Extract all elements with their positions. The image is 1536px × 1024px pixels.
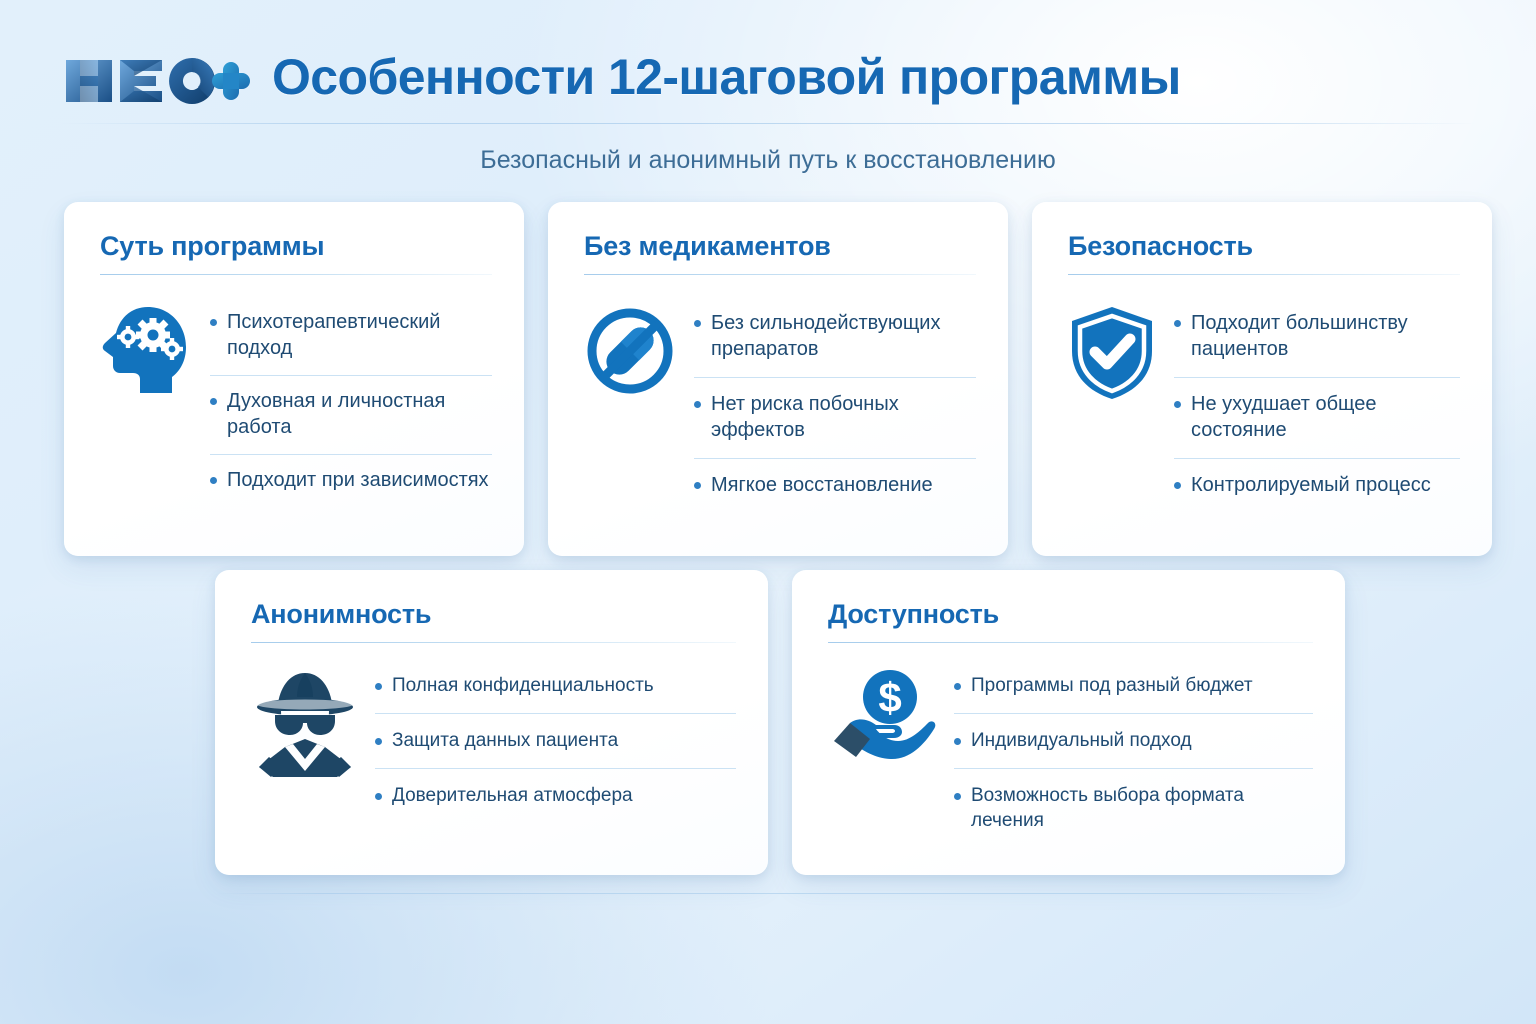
card-title: Без медикаментов bbox=[584, 232, 976, 262]
card-anonymity: Анонимность bbox=[215, 570, 768, 875]
bullet-text: Возможность выбора формата лечения bbox=[971, 783, 1313, 834]
bullet-dot-icon bbox=[694, 482, 701, 489]
bullet-text: Подходит большинству пациентов bbox=[1191, 310, 1460, 363]
list-item: Без сильнодействующих препаратов bbox=[694, 297, 976, 378]
bullet-list: Психотерапевтический подход Духовная и л… bbox=[210, 297, 492, 507]
list-item: Мягкое восстановление bbox=[694, 459, 976, 513]
bullet-list: Полная конфиденциальность Защита данных … bbox=[375, 659, 736, 824]
bullet-text: Защита данных пациента bbox=[392, 728, 618, 753]
bullet-dot-icon bbox=[1174, 320, 1181, 327]
card-title-divider bbox=[828, 642, 1313, 643]
card-program-essence: Суть программы bbox=[64, 202, 524, 556]
bullet-dot-icon bbox=[210, 477, 217, 484]
bullet-text: Не ухудшает общее состояние bbox=[1191, 391, 1460, 444]
bullet-dot-icon bbox=[954, 738, 961, 745]
bullet-dot-icon bbox=[954, 793, 961, 800]
list-item: Подходит большинству пациентов bbox=[1174, 297, 1460, 378]
bullet-dot-icon bbox=[210, 319, 217, 326]
bullet-list: Без сильнодействующих препаратов Нет рис… bbox=[694, 297, 976, 513]
bullet-text: Духовная и личностная работа bbox=[227, 388, 492, 441]
bullet-dot-icon bbox=[375, 738, 382, 745]
header-divider bbox=[60, 123, 1476, 124]
bullet-dot-icon bbox=[375, 793, 382, 800]
list-item: Подходит при зависимостях bbox=[210, 455, 492, 507]
card-title-divider bbox=[1068, 274, 1460, 275]
list-item: Защита данных пациента bbox=[375, 714, 736, 769]
bullet-text: Психотерапевтический подход bbox=[227, 309, 492, 362]
footer-divider bbox=[216, 893, 1326, 894]
card-title: Безопасность bbox=[1068, 232, 1460, 262]
bullet-text: Программы под разный бюджет bbox=[971, 673, 1253, 698]
bullet-text: Полная конфиденциальность bbox=[392, 673, 654, 698]
bullet-dot-icon bbox=[954, 683, 961, 690]
card-title: Суть программы bbox=[100, 232, 492, 262]
head-gears-icon bbox=[100, 297, 192, 401]
list-item: Индивидуальный подход bbox=[954, 714, 1313, 769]
list-item: Полная конфиденциальность bbox=[375, 659, 736, 714]
card-title-divider bbox=[584, 274, 976, 275]
incognito-icon bbox=[251, 659, 359, 777]
card-affordability: Доступность $ Программы под разный бюдже… bbox=[792, 570, 1345, 875]
bullet-list: Подходит большинству пациентов Не ухудша… bbox=[1174, 297, 1460, 513]
page-title: Особенности 12-шаговой программы bbox=[272, 48, 1181, 106]
list-item: Доверительная атмосфера bbox=[375, 769, 736, 823]
bullet-dot-icon bbox=[1174, 482, 1181, 489]
bullet-dot-icon bbox=[210, 398, 217, 405]
list-item: Психотерапевтический подход bbox=[210, 297, 492, 376]
list-item: Программы под разный бюджет bbox=[954, 659, 1313, 714]
list-item: Не ухудшает общее состояние bbox=[1174, 378, 1460, 459]
bullet-dot-icon bbox=[1174, 401, 1181, 408]
card-row-bottom: Анонимность bbox=[215, 570, 1345, 875]
list-item: Нет риска побочных эффектов bbox=[694, 378, 976, 459]
neo-plus-logo-icon bbox=[64, 52, 250, 108]
list-item: Возможность выбора формата лечения bbox=[954, 769, 1313, 849]
card-no-medication: Без медикаментов Без сильнодействующих п… bbox=[548, 202, 1008, 556]
page-header: Особенности 12-шаговой программы bbox=[0, 0, 1536, 124]
page-subtitle: Безопасный и анонимный путь к восстановл… bbox=[0, 146, 1536, 175]
brand-logo bbox=[64, 52, 250, 108]
bullet-dot-icon bbox=[375, 683, 382, 690]
card-title: Анонимность bbox=[251, 600, 736, 630]
bullet-text: Индивидуальный подход bbox=[971, 728, 1192, 753]
bullet-list: Программы под разный бюджет Индивидуальн… bbox=[954, 659, 1313, 849]
hand-dollar-icon: $ bbox=[828, 659, 938, 767]
bullet-text: Контролируемый процесс bbox=[1191, 472, 1431, 499]
bullet-text: Доверительная атмосфера bbox=[392, 783, 633, 808]
no-pills-icon bbox=[584, 297, 676, 397]
card-title-divider bbox=[251, 642, 736, 643]
card-title: Доступность bbox=[828, 600, 1313, 630]
card-safety: Безопасность Подходит большинству пациен… bbox=[1032, 202, 1492, 556]
bullet-dot-icon bbox=[694, 320, 701, 327]
bullet-text: Без сильнодействующих препаратов bbox=[711, 310, 976, 363]
bullet-dot-icon bbox=[694, 401, 701, 408]
list-item: Духовная и личностная работа bbox=[210, 376, 492, 455]
card-row-top: Суть программы bbox=[64, 202, 1492, 556]
bullet-text: Мягкое восстановление bbox=[711, 472, 933, 499]
shield-check-icon bbox=[1068, 297, 1156, 401]
svg-text:$: $ bbox=[878, 674, 901, 721]
list-item: Контролируемый процесс bbox=[1174, 459, 1460, 513]
card-title-divider bbox=[100, 274, 492, 275]
bullet-text: Нет риска побочных эффектов bbox=[711, 391, 976, 444]
bullet-text: Подходит при зависимостях bbox=[227, 467, 489, 494]
